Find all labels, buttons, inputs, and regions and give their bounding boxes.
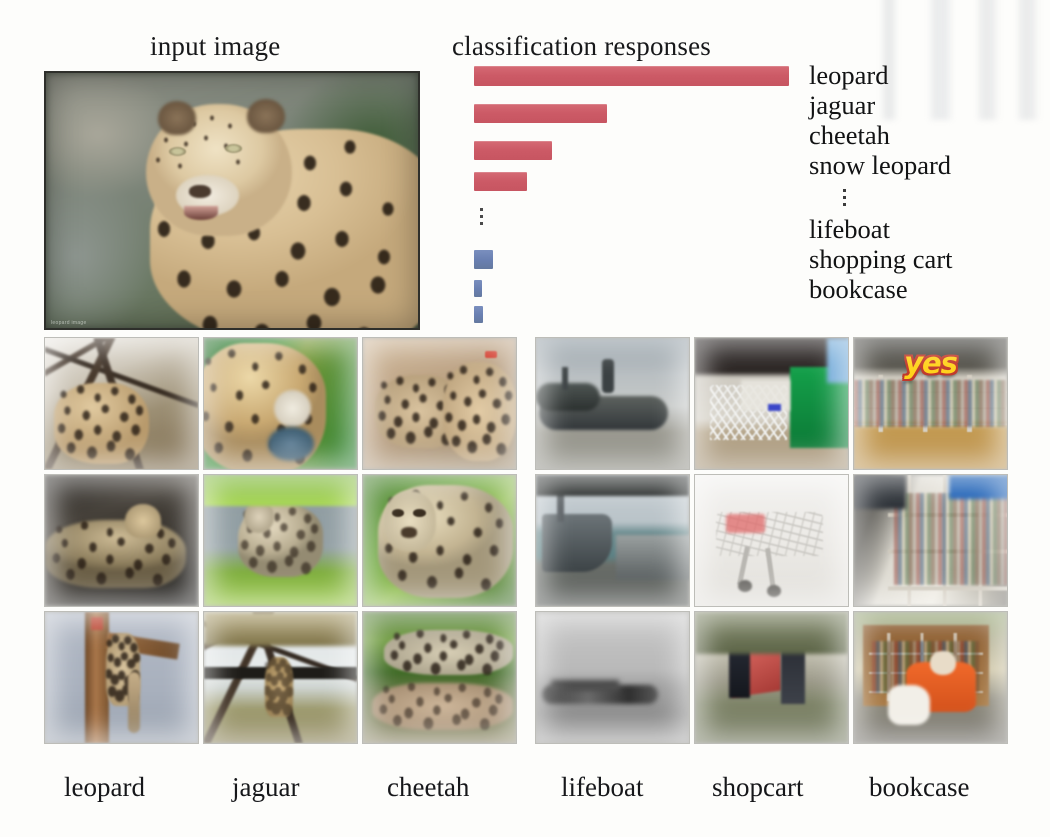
grid-row: yes [44, 337, 1012, 470]
bar-jaguar [474, 104, 607, 123]
tile-leopard-resting-rock [44, 474, 199, 607]
tile-lifeboat-sea-grayscale [535, 611, 690, 744]
tile-lifeboat-submarine-dock [535, 337, 690, 470]
tile-leopard-in-tree [44, 337, 199, 470]
class-label-list: leopard jaguar cheetah snow leopard life… [809, 60, 1049, 304]
grid-half-animals [44, 337, 525, 470]
tile-bookcase-library-shelves [853, 474, 1008, 607]
classification-responses-title: classification responses [452, 31, 711, 62]
input-image-title: input image [150, 31, 280, 62]
bar-shopping-cart [474, 280, 482, 297]
tile-lifeboat-harbor-ship [535, 474, 690, 607]
grid-row [44, 611, 1012, 744]
grid-half-animals [44, 611, 525, 744]
bar-leopard [474, 66, 789, 86]
bar-bookcase [474, 306, 483, 323]
tile-shopping-cart-people-street [694, 611, 849, 744]
bottom-label-jaguar: jaguar [232, 772, 299, 803]
class-label-lifeboat: lifeboat [809, 214, 1049, 244]
class-label-ellipsis-icon [809, 180, 879, 214]
grid-half-objects [535, 474, 1012, 607]
class-label-snow-leopard: snow leopard [809, 150, 1049, 180]
bottom-category-labels: leopard jaguar cheetah lifeboat shopcart… [0, 772, 1050, 822]
grid-half-objects: yes [535, 337, 1012, 470]
grid-half-animals [44, 474, 525, 607]
class-label-leopard: leopard [809, 60, 1049, 90]
tile-leopard-tail-tree-trunk [44, 611, 199, 744]
tile-cheetah-face-green [362, 474, 517, 607]
bottom-label-bookcase: bookcase [869, 772, 969, 803]
tile-shopping-cart-overturned-white [694, 474, 849, 607]
bottom-label-shopcart: shopcart [712, 772, 803, 803]
tile-jaguar-on-branch-sky [203, 611, 358, 744]
yes-overlay-text: yes [854, 346, 1007, 380]
tile-bookcase-person-orange-shirt [853, 611, 1008, 744]
figure-root: input image classification responses leo… [0, 0, 1050, 837]
retrieval-grid: yes [44, 337, 1012, 748]
classification-bar-chart [474, 66, 794, 316]
grid-half-objects [535, 611, 1012, 744]
class-label-jaguar: jaguar [809, 90, 1049, 120]
class-label-shopping-cart: shopping cart [809, 244, 1049, 274]
tile-jaguar-closeup-green [203, 337, 358, 470]
bottom-label-cheetah: cheetah [387, 772, 469, 803]
bottom-label-leopard: leopard [64, 772, 145, 803]
bottom-label-lifeboat: lifeboat [561, 772, 643, 803]
tile-cheetah-pair-sand [362, 337, 517, 470]
class-label-bookcase: bookcase [809, 274, 1049, 304]
bar-snow-leopard [474, 172, 527, 191]
tile-cheetah-lying-grass [362, 611, 517, 744]
bar-cheetah [474, 141, 552, 160]
class-label-cheetah: cheetah [809, 120, 1049, 150]
image-credit: leopard image [51, 320, 87, 326]
bar-lifeboat [474, 250, 493, 269]
tile-jaguar-cub-grass [203, 474, 358, 607]
tile-shopping-cart-green-dumpster [694, 337, 849, 470]
tile-bookcase-shelves-yes: yes [853, 337, 1008, 470]
bar-ellipsis-icon [479, 208, 483, 225]
grid-row [44, 474, 1012, 607]
input-image-photo: leopard image [44, 71, 420, 330]
